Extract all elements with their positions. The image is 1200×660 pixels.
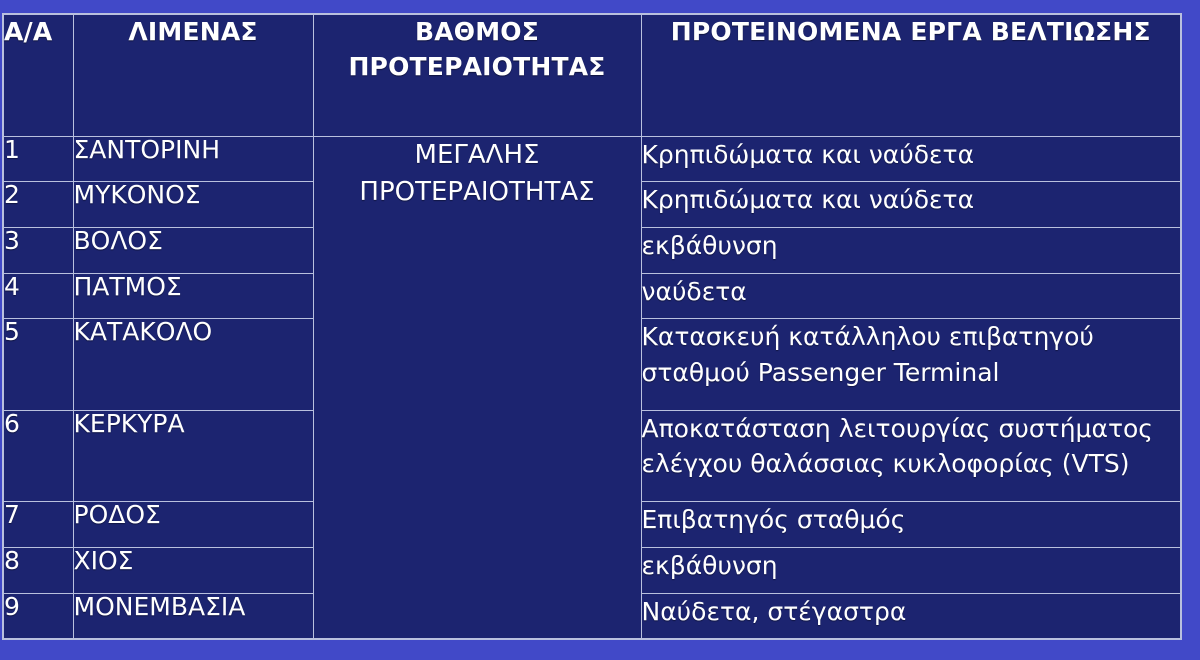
cell-index: 6 xyxy=(3,410,73,501)
column-header-index: Α/Α xyxy=(3,14,73,136)
cell-port: ΜΟΝΕΜΒΑΣΙΑ xyxy=(73,593,313,639)
cell-port: ΚΕΡΚΥΡΑ xyxy=(73,410,313,501)
cell-works: Κατασκευή κατάλληλου επιβατηγού σταθμού … xyxy=(641,319,1181,410)
cell-index: 3 xyxy=(3,227,73,273)
cell-port: ΡΟΔΟΣ xyxy=(73,502,313,548)
cell-port: ΠΑΤΜΟΣ xyxy=(73,273,313,319)
table-body: 1 ΣΑΝΤΟΡΙΝΗ ΜΕΓΑΛΗΣ ΠΡΟΤΕΡΑΙΟΤΗΤΑΣ Κρηπι… xyxy=(3,136,1181,639)
cell-index: 9 xyxy=(3,593,73,639)
cell-works: ναύδετα xyxy=(641,273,1181,319)
ports-priority-table: Α/Α ΛΙΜΕΝΑΣ ΒΑΘΜΟΣ ΠΡΟΤΕΡΑΙΟΤΗΤΑΣ ΠΡΟΤΕΙ… xyxy=(2,13,1182,640)
cell-works: Κρηπιδώματα και ναύδετα xyxy=(641,182,1181,228)
cell-works: Επιβατηγός σταθμός xyxy=(641,502,1181,548)
cell-index: 7 xyxy=(3,502,73,548)
table-header: Α/Α ΛΙΜΕΝΑΣ ΒΑΘΜΟΣ ΠΡΟΤΕΡΑΙΟΤΗΤΑΣ ΠΡΟΤΕΙ… xyxy=(3,14,1181,136)
cell-index: 8 xyxy=(3,548,73,594)
cell-index: 5 xyxy=(3,319,73,410)
cell-port: ΚΑΤΑΚΟΛΟ xyxy=(73,319,313,410)
cell-index: 4 xyxy=(3,273,73,319)
cell-works: Ναύδετα, στέγαστρα xyxy=(641,593,1181,639)
column-header-works: ΠΡΟΤΕΙΝΟΜΕΝΑ ΕΡΓΑ ΒΕΛΤΙΩΣΗΣ xyxy=(641,14,1181,136)
cell-works: Κρηπιδώματα και ναύδετα xyxy=(641,136,1181,182)
cell-priority-group: ΜΕΓΑΛΗΣ ΠΡΟΤΕΡΑΙΟΤΗΤΑΣ xyxy=(313,136,641,639)
cell-index: 1 xyxy=(3,136,73,182)
cell-works: Αποκατάσταση λειτουργίας συστήματος ελέγ… xyxy=(641,410,1181,501)
cell-works: εκβάθυνση xyxy=(641,227,1181,273)
cell-port: ΣΑΝΤΟΡΙΝΗ xyxy=(73,136,313,182)
table-row: 1 ΣΑΝΤΟΡΙΝΗ ΜΕΓΑΛΗΣ ΠΡΟΤΕΡΑΙΟΤΗΤΑΣ Κρηπι… xyxy=(3,136,1181,182)
slide-canvas: Α/Α ΛΙΜΕΝΑΣ ΒΑΘΜΟΣ ΠΡΟΤΕΡΑΙΟΤΗΤΑΣ ΠΡΟΤΕΙ… xyxy=(0,0,1200,660)
cell-works: εκβάθυνση xyxy=(641,548,1181,594)
cell-index: 2 xyxy=(3,182,73,228)
cell-port: ΒΟΛΟΣ xyxy=(73,227,313,273)
cell-port: ΧΙΟΣ xyxy=(73,548,313,594)
cell-port: ΜΥΚΟΝΟΣ xyxy=(73,182,313,228)
column-header-port: ΛΙΜΕΝΑΣ xyxy=(73,14,313,136)
column-header-priority: ΒΑΘΜΟΣ ΠΡΟΤΕΡΑΙΟΤΗΤΑΣ xyxy=(313,14,641,136)
header-row: Α/Α ΛΙΜΕΝΑΣ ΒΑΘΜΟΣ ΠΡΟΤΕΡΑΙΟΤΗΤΑΣ ΠΡΟΤΕΙ… xyxy=(3,14,1181,136)
